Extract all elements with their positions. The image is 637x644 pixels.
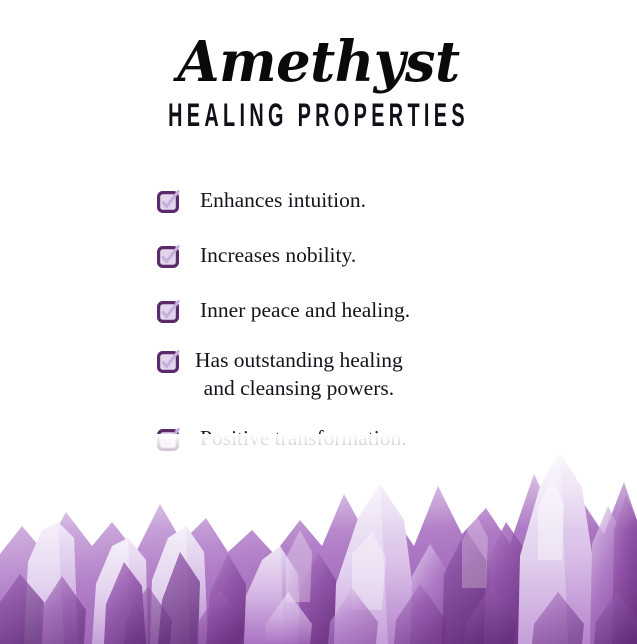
header: Amethyst HEALING PROPERTIES [0,32,637,132]
list-item-label: Has outstanding healing and cleansing po… [195,346,403,402]
page-title: Amethyst [10,32,628,92]
checked-checkbox-icon[interactable] [157,300,180,323]
amethyst-crystal-cluster-image [0,434,637,644]
list-item-label: Enhances intuition. [200,186,366,214]
list-item-label: Increases nobility. [200,241,356,269]
checked-checkbox-icon[interactable] [157,350,180,373]
list-item: Increases nobility. [0,241,637,269]
crystal-fade-overlay [0,434,637,530]
amethyst-healing-properties-graphic: Amethyst HEALING PROPERTIES Enhances int… [0,0,637,644]
list-item: Enhances intuition. [0,186,637,214]
checked-checkbox-icon[interactable] [157,245,180,268]
list-item: Has outstanding healing and cleansing po… [0,346,637,402]
checked-checkbox-icon[interactable] [157,190,180,213]
page-subtitle: HEALING PROPERTIES [121,98,516,132]
list-item-label: Inner peace and healing. [200,296,410,324]
list-item: Inner peace and healing. [0,296,637,324]
